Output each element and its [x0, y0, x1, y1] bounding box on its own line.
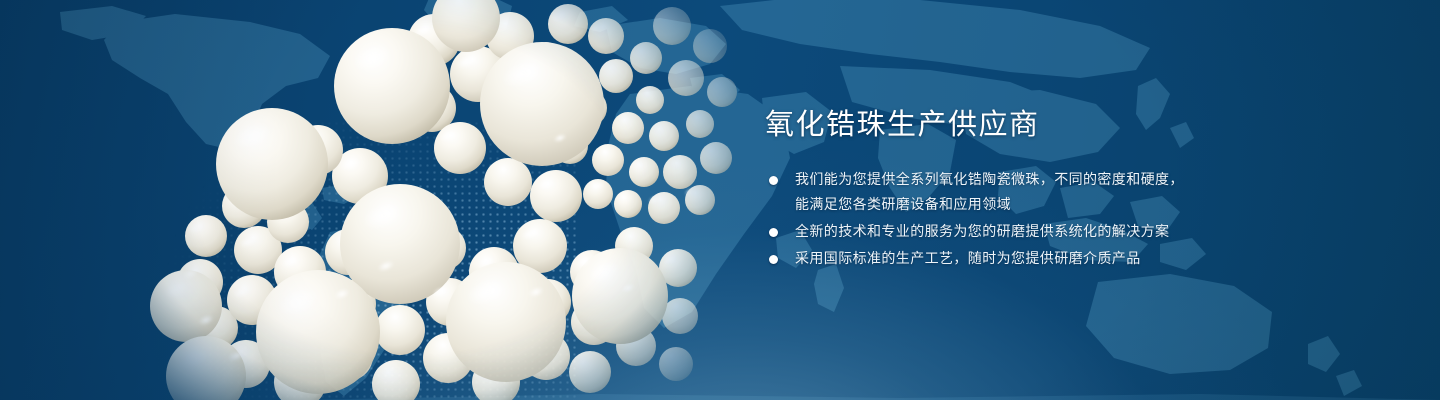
- feature-bullet-list: 我们能为您提供全系列氧化锆陶瓷微珠，不同的密度和硬度， 能满足您各类研磨设备和应…: [765, 168, 1385, 272]
- page-title: 氧化锆珠生产供应商: [765, 104, 1385, 144]
- list-item: 我们能为您提供全系列氧化锆陶瓷微珠，不同的密度和硬度， 能满足您各类研磨设备和应…: [765, 168, 1385, 218]
- banner-text-block: 氧化锆珠生产供应商 我们能为您提供全系列氧化锆陶瓷微珠，不同的密度和硬度， 能满…: [765, 104, 1385, 274]
- bullet-text: 全新的技术和专业的服务为您的研磨提供系统化的解决方案: [795, 220, 1385, 245]
- bullet-dot-icon: [769, 176, 778, 185]
- bullet-line-1: 采用国际标准的生产工艺，随时为您提供研磨介质产品: [795, 251, 1141, 267]
- bullet-line-2: 能满足您各类研磨设备和应用领域: [795, 193, 1385, 218]
- bullet-line-1: 全新的技术和专业的服务为您的研磨提供系统化的解决方案: [795, 224, 1169, 240]
- bullet-line-1: 我们能为您提供全系列氧化锆陶瓷微珠，不同的密度和硬度，: [795, 172, 1184, 188]
- bullet-dot-icon: [769, 255, 778, 264]
- bullet-dot-icon: [769, 228, 778, 237]
- hero-banner: 氧化锆珠生产供应商 我们能为您提供全系列氧化锆陶瓷微珠，不同的密度和硬度， 能满…: [0, 0, 1440, 400]
- bullet-text: 我们能为您提供全系列氧化锆陶瓷微珠，不同的密度和硬度， 能满足您各类研磨设备和应…: [795, 168, 1385, 218]
- list-item: 采用国际标准的生产工艺，随时为您提供研磨介质产品: [765, 247, 1385, 272]
- bullet-text: 采用国际标准的生产工艺，随时为您提供研磨介质产品: [795, 247, 1385, 272]
- list-item: 全新的技术和专业的服务为您的研磨提供系统化的解决方案: [765, 220, 1385, 245]
